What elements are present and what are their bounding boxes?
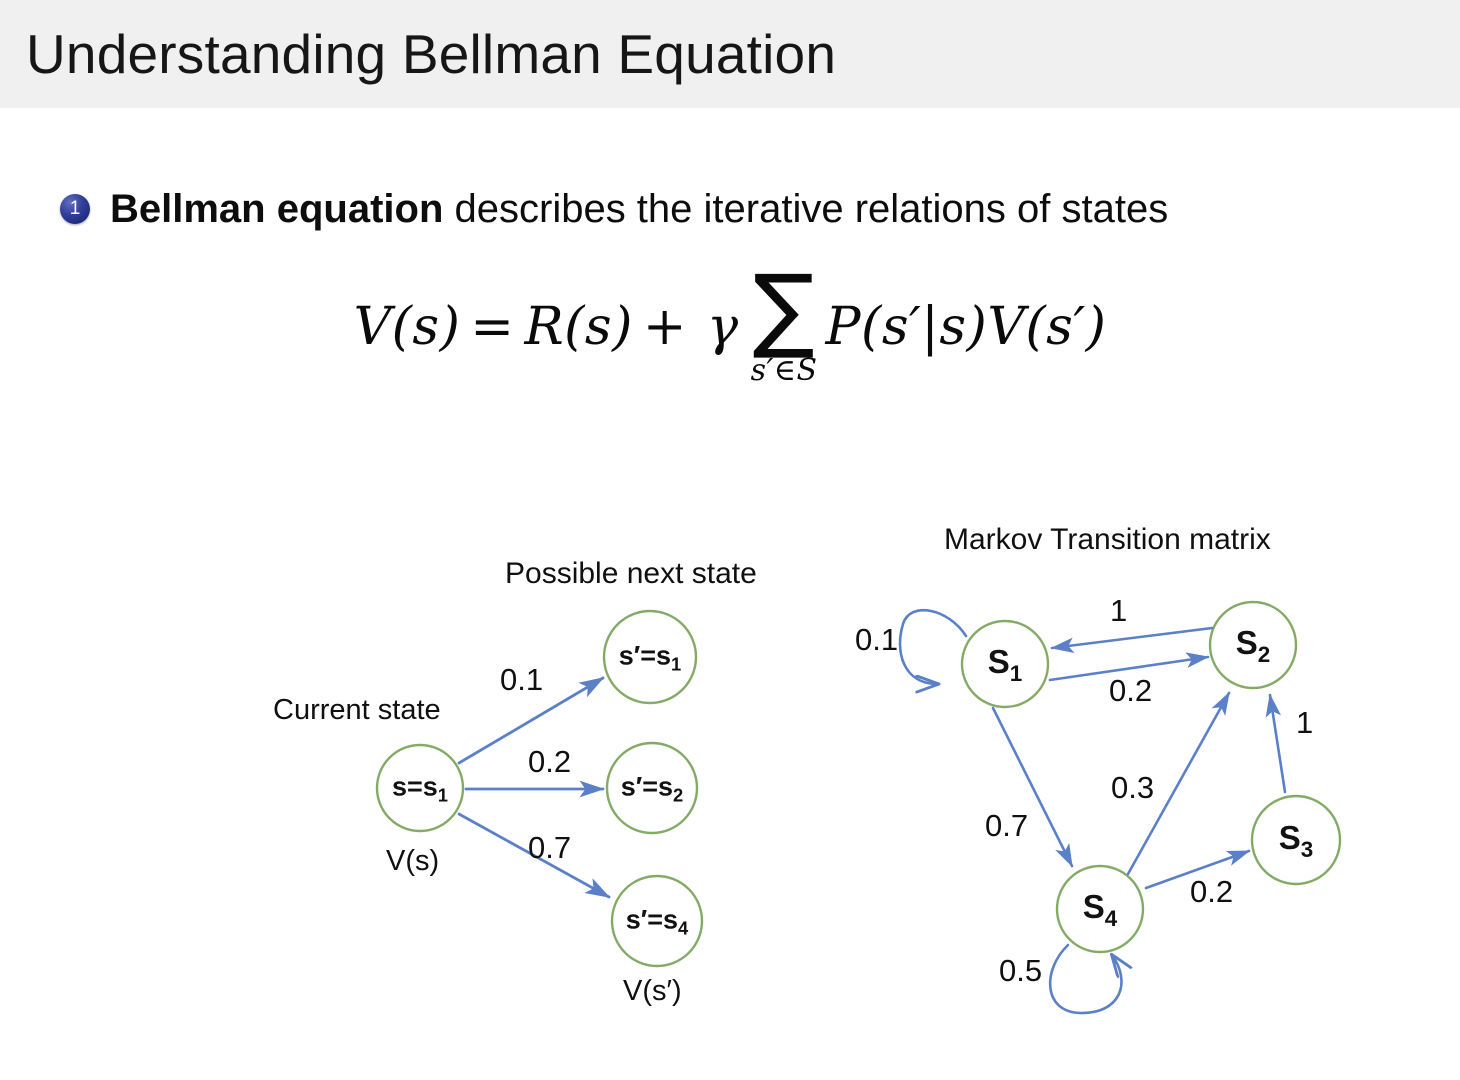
node-next-state-4 [612,876,702,966]
right-diagram-edges [900,610,1285,1013]
edge-S4-to-S3 [1146,851,1249,888]
node-S1 [962,621,1048,707]
current-state-label: Current state [273,694,441,727]
right-diagram-nodes [962,602,1340,952]
edge-S2-to-S1 [1052,628,1212,648]
node-next-state-4-label: s′=s4 [626,904,689,939]
node-next-state-2-label: s′=s2 [621,771,684,806]
prob-S4-self-loop: 0.5 [999,953,1042,989]
left-diagram-edges [459,678,609,897]
bullet-number-icon: 1 [60,194,90,224]
bellman-equation: V(s) = R(s) + γ ∑ s′∈S P(s′|s) V(s′) [0,268,1460,386]
equation-gamma: γ [707,297,739,357]
equation-equals: = [470,297,514,357]
node-next-state-2 [607,743,697,833]
node-S4-label: S4 [1083,888,1118,932]
node-S2-label: S2 [1236,624,1271,668]
equation-reward-term: R(s) [524,297,632,357]
next-value-label: V(s′) [623,975,682,1008]
edge-S3-to-S2 [1270,695,1285,792]
prob-current-to-next1: 0.1 [500,662,543,698]
right-diagram-heading: Markov Transition matrix [944,523,1271,557]
node-current-state [377,745,463,831]
equation-lhs: V(s) [354,297,461,357]
bullet-text: Bellman equation describes the iterative… [110,184,1168,234]
equation-next-value-term: V(s′) [987,297,1106,357]
equation-plus: + [643,297,687,357]
bullet-rest-text: describes the iterative relations of sta… [443,187,1168,231]
prob-S1-to-S4: 0.7 [985,808,1028,844]
node-S1-label: S1 [988,643,1023,687]
equation-sum-subscript: s′∈S [751,353,818,388]
slide-canvas: Understanding Bellman Equation 1 Bellman… [0,0,1460,1080]
node-S2 [1210,602,1296,688]
prob-S1-to-S2: 0.2 [1109,673,1152,709]
left-diagram-nodes [377,611,702,966]
edge-S4-self-loop [1050,945,1121,1013]
node-S3-label: S3 [1279,819,1314,863]
edge-S4-to-S2 [1128,693,1229,874]
node-S3 [1252,796,1340,884]
edge-S1-to-S4 [993,708,1072,866]
sigma-icon: ∑ [753,270,816,347]
edge-current-to-next1 [459,678,603,763]
prob-S4-to-S3: 0.2 [1190,874,1233,910]
node-current-state-label: s=s1 [392,771,448,806]
edge-current-to-next4 [459,814,609,897]
node-next-state-1-label: s′=s1 [619,640,682,675]
node-next-state-1 [604,611,696,703]
edge-S1-to-S2 [1050,657,1208,680]
bullet-strong-text: Bellman equation [110,187,443,231]
prob-S1-self-loop: 0.1 [855,622,898,658]
equation-line: V(s) = R(s) + γ ∑ s′∈S P(s′|s) V(s′) [354,268,1107,386]
left-diagram-heading: Possible next state [505,557,757,591]
current-value-label: V(s) [386,845,439,878]
prob-S3-to-S2: 1 [1296,705,1313,741]
prob-current-to-next2: 0.2 [528,744,571,780]
prob-S4-to-S2: 0.3 [1111,770,1154,806]
node-S4 [1057,866,1143,952]
prob-S2-to-S1: 1 [1110,593,1127,629]
edge-S1-self-loop [900,610,966,684]
page-title: Understanding Bellman Equation [26,18,836,90]
prob-current-to-next4: 0.7 [528,830,571,866]
equation-summation: ∑ s′∈S [751,270,818,388]
bullet-item: 1 Bellman equation describes the iterati… [60,178,1430,240]
equation-transition-term: P(s′|s) [826,297,988,357]
diagram-layer: Possible next state Current state V(s) V… [0,0,1460,1080]
